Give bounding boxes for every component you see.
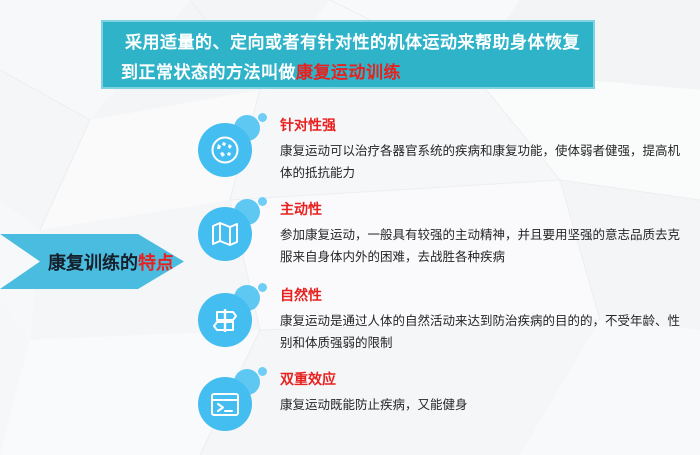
left-tag-highlight: 特点 — [138, 253, 174, 273]
feature-text: 自然性 康复运动是通过人体的自然活动来达到防治疾病的目的的，不受年龄、性别和体质… — [272, 283, 696, 354]
icon-cluster — [196, 113, 272, 185]
signpost-icon — [198, 293, 252, 347]
header-line-2-prefix: 到正常状态的方法叫做 — [121, 63, 296, 82]
feature-row: 主动性 参加康复运动，一般具有较强的主动精神，并且要用坚强的意志品质去克服来自身… — [196, 197, 696, 269]
icon-cluster — [196, 283, 272, 355]
bubble-small — [258, 367, 267, 376]
feature-text: 双重效应 康复运动既能防止疾病，又能健身 — [272, 367, 696, 416]
feature-text: 针对性强 康复运动可以治疗各器官系统的疾病和康复功能，使体弱者健强，提高机体的抵… — [272, 113, 696, 184]
map-icon — [198, 207, 252, 261]
feature-title: 双重效应 — [280, 369, 696, 389]
bubble-small — [258, 283, 267, 292]
feature-title: 针对性强 — [280, 115, 696, 135]
feature-title: 主动性 — [280, 199, 696, 219]
feature-row: 双重效应 康复运动既能防止疾病，又能健身 — [196, 367, 696, 439]
left-tag-prefix: 康复训练的 — [48, 253, 138, 273]
left-tag-text: 康复训练的特点 — [0, 249, 174, 275]
terminal-icon — [198, 377, 252, 431]
header-line-2-highlight: 康复运动训练 — [296, 63, 401, 82]
bubble-small — [258, 197, 267, 206]
left-arrow-tag: 康复训练的特点 — [0, 234, 184, 289]
feature-description: 康复运动可以治疗各器官系统的疾病和康复功能，使体弱者健强，提高机体的抵抗能力 — [280, 140, 680, 184]
feature-description: 康复运动既能防止疾病，又能健身 — [280, 394, 680, 416]
icon-cluster — [196, 197, 272, 269]
bubble-small — [258, 113, 267, 122]
feature-description: 参加康复运动，一般具有较强的主动精神，并且要用坚强的意志品质去克服来自身体内外的… — [280, 224, 680, 268]
header-line-2: 到正常状态的方法叫做康复运动训练 — [117, 58, 579, 88]
slide-canvas: 采用适量的、定向或者有针对性的机体运动来帮助身体恢复 到正常状态的方法叫做康复运… — [0, 0, 700, 455]
header-banner: 采用适量的、定向或者有针对性的机体运动来帮助身体恢复 到正常状态的方法叫做康复运… — [101, 20, 595, 89]
feature-row: 自然性 康复运动是通过人体的自然活动来达到防治疾病的目的的，不受年龄、性别和体质… — [196, 283, 696, 355]
feature-text: 主动性 参加康复运动，一般具有较强的主动精神，并且要用坚强的意志品质去克服来自身… — [272, 197, 696, 268]
globe-icon — [198, 123, 252, 177]
icon-cluster — [196, 367, 272, 439]
feature-title: 自然性 — [280, 285, 696, 305]
feature-description: 康复运动是通过人体的自然活动来达到防治疾病的目的的，不受年龄、性别和体质强弱的限… — [280, 310, 680, 354]
feature-row: 针对性强 康复运动可以治疗各器官系统的疾病和康复功能，使体弱者健强，提高机体的抵… — [196, 113, 696, 185]
header-line-1: 采用适量的、定向或者有针对性的机体运动来帮助身体恢复 — [117, 28, 579, 58]
